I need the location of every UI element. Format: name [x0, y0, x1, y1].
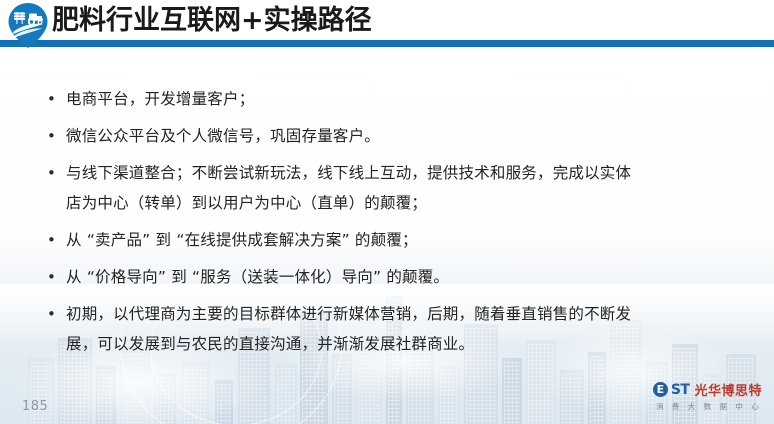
- list-item-line: 微信公众平台及个人微信号，巩固存量客户。: [66, 121, 744, 151]
- list-item-line: 初期，以代理商为主要的目标群体进行新媒体营销，后期，随着垂直销售的不断发: [66, 299, 744, 329]
- list-item: • 与线下渠道整合；不断尝试新玩法，线下线上互动，提供技术和服务，完成以实体 店…: [44, 158, 744, 218]
- list-item-line: 店为中心（转单）到以用户为中心（直单）的颠覆；: [66, 188, 744, 218]
- brand-logo-main: E ST 光华博思特: [653, 380, 762, 399]
- list-item: • 初期，以代理商为主要的目标群体进行新媒体营销，后期，随着垂直销售的不断发 展…: [44, 299, 744, 359]
- page-title: 肥料行业互联网+实操路径: [52, 3, 372, 39]
- list-item-text: 从 “卖产品” 到 “在线提供成套解决方案” 的颠覆；: [66, 225, 744, 255]
- bullet-list: • 电商平台，开发增量客户； • 微信公众平台及个人微信号，巩固存量客户。 • …: [44, 84, 744, 366]
- bullet-marker-icon: •: [44, 262, 66, 292]
- brand-name-latin: ST: [671, 382, 690, 398]
- list-item: • 从 “卖产品” 到 “在线提供成套解决方案” 的颠覆；: [44, 225, 744, 255]
- list-item-line: 电商平台，开发增量客户；: [66, 84, 744, 114]
- agriculture-map-pin-icon: [8, 3, 48, 48]
- brand-tagline: 消 费 大 数 据 中 心: [656, 401, 762, 412]
- list-item-text: 电商平台，开发增量客户；: [66, 84, 744, 114]
- bullet-marker-icon: •: [44, 158, 66, 188]
- page-number: 185: [22, 399, 48, 414]
- list-item-line: 从 “价格导向” 到 “服务（送装一体化）导向” 的颠覆。: [66, 262, 744, 292]
- list-item-text: 微信公众平台及个人微信号，巩固存量客户。: [66, 121, 744, 151]
- slide-header: 肥料行业互联网+实操路径: [0, 0, 774, 48]
- bullet-marker-icon: •: [44, 225, 66, 255]
- list-item-line: 与线下渠道整合；不断尝试新玩法，线下线上互动，提供技术和服务，完成以实体: [66, 158, 744, 188]
- bullet-marker-icon: •: [44, 84, 66, 114]
- list-item-text: 从 “价格导向” 到 “服务（送装一体化）导向” 的颠覆。: [66, 262, 744, 292]
- list-item-line: 从 “卖产品” 到 “在线提供成套解决方案” 的颠覆；: [66, 225, 744, 255]
- list-item: • 从 “价格导向” 到 “服务（送装一体化）导向” 的颠覆。: [44, 262, 744, 292]
- list-item-line: 展，可以发展到与农民的直接沟通，并渐渐发展社群商业。: [66, 329, 744, 359]
- brand-logo: E ST 光华博思特 消 费 大 数 据 中 心: [653, 380, 762, 412]
- list-item-text: 与线下渠道整合；不断尝试新玩法，线下线上互动，提供技术和服务，完成以实体 店为中…: [66, 158, 744, 218]
- slide-canvas: 肥料行业互联网+实操路径 • 电商平台，开发增量客户； • 微信公众平台及个人微…: [0, 0, 774, 424]
- brand-name-cn: 光华博思特: [694, 380, 762, 399]
- bullet-marker-icon: •: [44, 299, 66, 329]
- bullet-marker-icon: •: [44, 121, 66, 151]
- list-item: • 电商平台，开发增量客户；: [44, 84, 744, 114]
- list-item-text: 初期，以代理商为主要的目标群体进行新媒体营销，后期，随着垂直销售的不断发 展，可…: [66, 299, 744, 359]
- brand-badge-icon: E: [653, 382, 668, 397]
- list-item: • 微信公众平台及个人微信号，巩固存量客户。: [44, 121, 744, 151]
